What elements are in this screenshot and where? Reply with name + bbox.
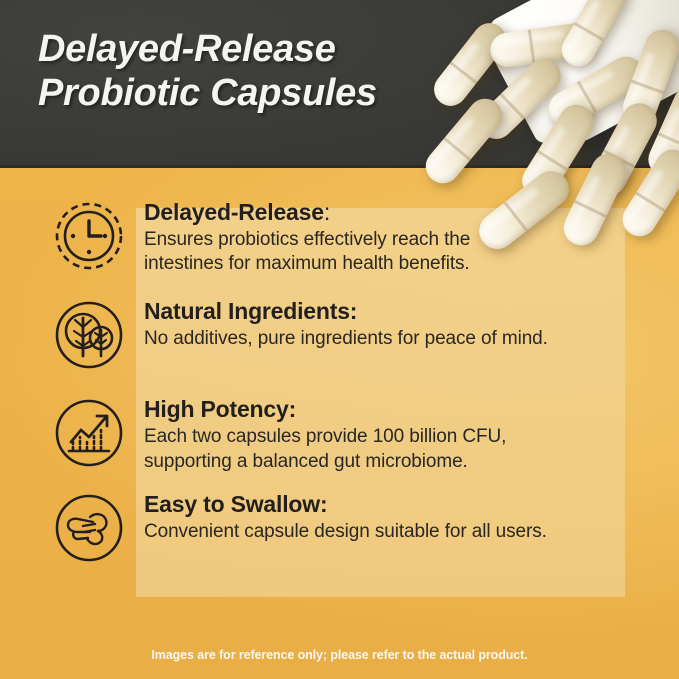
feature-copy: High Potency: Each two capsules provide … — [128, 393, 506, 474]
feature-item-delayed-release: Delayed-Release: Ensures probiotics effe… — [0, 196, 679, 277]
product-infographic: Delayed-Release Probiotic Capsules — [0, 0, 679, 679]
trees-icon — [50, 295, 128, 375]
feature-body: Ensures probiotics effectively reach the… — [144, 228, 470, 277]
feature-body: No additives, pure ingredients for peace… — [144, 327, 548, 352]
page-title: Delayed-Release Probiotic Capsules — [38, 27, 438, 116]
growth-chart-icon — [50, 393, 128, 473]
feature-copy: Natural Ingredients: No additives, pure … — [128, 295, 548, 351]
feature-list: Delayed-Release: Ensures probiotics effe… — [0, 196, 679, 580]
clock-icon — [50, 196, 128, 276]
hand-capsule-icon — [50, 488, 128, 568]
feature-title: Delayed-Release: — [144, 200, 470, 226]
feature-title: High Potency: — [144, 397, 506, 423]
feature-item-easy-to-swallow: Easy to Swallow: Convenient capsule desi… — [0, 488, 679, 568]
disclaimer-text: Images are for reference only; please re… — [0, 648, 679, 662]
feature-item-natural-ingredients: Natural Ingredients: No additives, pure … — [0, 295, 679, 375]
feature-copy: Easy to Swallow: Convenient capsule desi… — [128, 488, 547, 544]
feature-title: Easy to Swallow: — [144, 492, 547, 518]
feature-item-high-potency: High Potency: Each two capsules provide … — [0, 393, 679, 474]
feature-copy: Delayed-Release: Ensures probiotics effe… — [128, 196, 470, 277]
feature-body: Convenient capsule design suitable for a… — [144, 520, 547, 545]
feature-title: Natural Ingredients: — [144, 299, 548, 325]
feature-body: Each two capsules provide 100 billion CF… — [144, 425, 506, 474]
